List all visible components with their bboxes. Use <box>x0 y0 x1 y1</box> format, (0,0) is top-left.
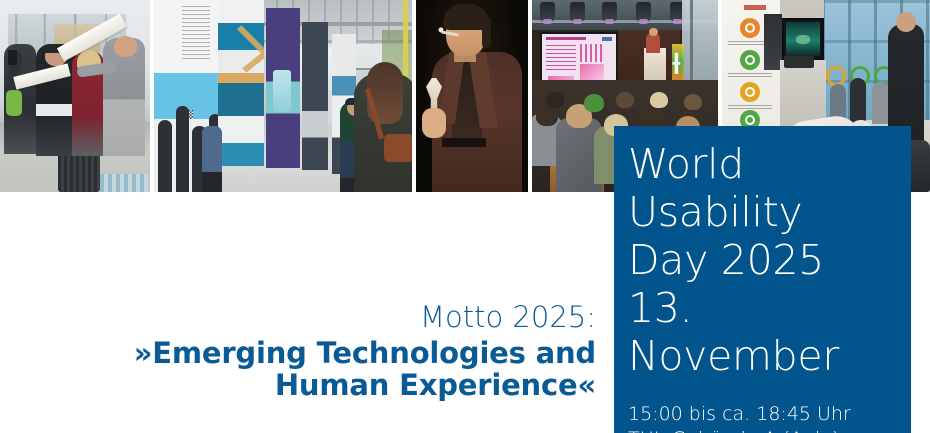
rollup-banner <box>302 22 328 170</box>
presenter-at-lectern <box>646 33 660 53</box>
head <box>114 36 137 57</box>
poster-silhouette <box>176 106 189 192</box>
event-title: World Usability Day 2025 13. November <box>628 140 911 380</box>
banner-caption <box>728 73 772 77</box>
audience-head <box>536 106 558 126</box>
audience-head <box>684 94 702 110</box>
slide-image <box>580 64 604 80</box>
projection-screen <box>540 32 618 86</box>
slide-heading <box>546 37 586 40</box>
person-grey-sweater <box>103 38 145 156</box>
person-dark-jacket <box>4 44 36 154</box>
head <box>896 12 916 32</box>
event-banner: ᵼ <box>0 0 930 433</box>
audience-head <box>650 92 668 108</box>
ponytail <box>482 18 491 48</box>
stage-light-icon <box>570 2 585 21</box>
audience-head-green-cap <box>584 94 604 112</box>
event-time-and-venue: 15:00 bis ca. 18:45 Uhr THI, Gebäude A (… <box>628 402 911 433</box>
laptop-icon <box>784 56 814 68</box>
photo-keynote-speaker <box>416 0 528 192</box>
poster-text-block <box>182 6 210 62</box>
phone-icon <box>8 50 17 65</box>
stage-light-icon <box>540 2 555 21</box>
speaker-hand <box>422 108 446 138</box>
slide-logo <box>602 37 612 41</box>
photo-poster-exhibition <box>154 0 412 192</box>
motto-block: Motto 2025: »Emerging Technologies and H… <box>50 300 596 401</box>
thi-logo: ᵼ <box>672 40 706 84</box>
banner-icon-orange <box>740 18 760 38</box>
stage-light-icon <box>602 2 617 21</box>
photo-atrium-participants <box>0 0 150 192</box>
audience-head <box>546 92 564 108</box>
person-with-cap <box>36 44 76 156</box>
banner-icon-green <box>740 50 760 70</box>
banner-caption <box>728 105 772 109</box>
slide-bar-chart <box>580 44 602 62</box>
rollup-banner <box>218 0 264 166</box>
shirt-hem <box>36 104 76 116</box>
motto-text: »Emerging Technologies and Human Experie… <box>50 337 596 401</box>
banner-logo <box>744 5 766 10</box>
water-bottles <box>100 174 148 192</box>
speaker-belt <box>442 138 486 147</box>
shoulder-bag <box>384 134 412 162</box>
audience-head <box>616 92 634 108</box>
visitor-in-jeans <box>202 126 222 192</box>
monitor-image <box>786 22 820 56</box>
slide-text-lines <box>546 45 576 73</box>
motto-label: Motto 2025: <box>50 300 596 334</box>
event-info-panel: World Usability Day 2025 13. November 15… <box>614 126 911 433</box>
stage-light-icon <box>636 2 651 21</box>
demo-monitor <box>782 18 824 60</box>
poster-silhouette <box>158 120 172 192</box>
banner-icon-yellow <box>740 82 760 102</box>
visitor-with-shoulder-bag <box>354 74 412 192</box>
rollup-banner <box>266 8 300 168</box>
